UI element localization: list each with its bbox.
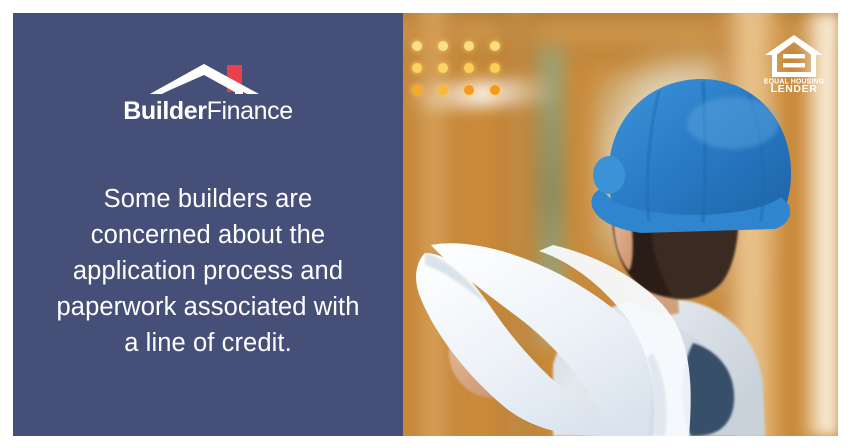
dot <box>438 41 448 51</box>
left-quote-panel: BuilderFinance Some builders are concern… <box>13 13 403 436</box>
dot <box>464 85 474 95</box>
dot <box>438 63 448 73</box>
dot <box>464 63 474 73</box>
dot <box>438 85 448 95</box>
house-roof-icon <box>147 61 269 97</box>
logo-word-builder: Builder <box>123 97 206 125</box>
dot <box>412 41 422 51</box>
equal-housing-lender-logo: EQUAL HOUSING LENDER <box>763 33 825 93</box>
dot <box>412 63 422 73</box>
promo-card: BuilderFinance Some builders are concern… <box>13 13 838 436</box>
quote-line-1: Some builders are <box>31 181 385 217</box>
dot-grid-decoration <box>412 41 516 107</box>
logo-wordmark: BuilderFinance <box>123 99 292 124</box>
quote-line-4: paperwork associated with <box>31 289 385 325</box>
quote-line-3: application process and <box>31 253 385 289</box>
dot <box>490 41 500 51</box>
quote-line-5: a line of credit. <box>31 325 385 361</box>
dot <box>412 85 422 95</box>
dot <box>490 85 500 95</box>
dot <box>490 63 500 73</box>
ehl-line-2: LENDER <box>771 83 818 93</box>
quote-line-2: concerned about the <box>31 217 385 253</box>
construction-photo: EQUAL HOUSING LENDER <box>403 13 838 436</box>
logo-word-finance: Finance <box>207 97 293 125</box>
dot <box>464 41 474 51</box>
builder-finance-logo: BuilderFinance <box>13 61 403 124</box>
quote-text-block: Some builders are concerned about the ap… <box>31 181 385 361</box>
